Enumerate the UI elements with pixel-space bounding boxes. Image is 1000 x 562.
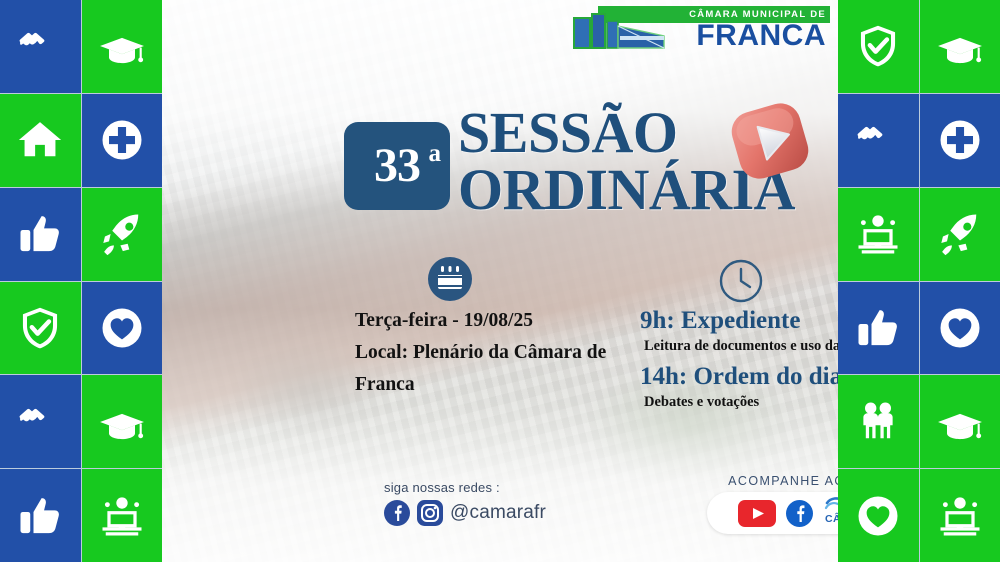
- live-platforms-pill: TV CÂMARA FRANCA: [707, 492, 838, 534]
- icon-tile-graduation-cap: [920, 0, 1000, 93]
- medical-cross-icon: [934, 114, 986, 166]
- social-handle[interactable]: @camarafr: [450, 502, 546, 524]
- social-label: siga nossas redes :: [384, 480, 546, 495]
- camara-municipal-franca-logo: CÂMARA MUNICIPAL DE FRANCA: [566, 4, 830, 56]
- schedule-title-0: Expediente: [681, 307, 800, 334]
- schedule-time-0: 9h: [640, 307, 666, 334]
- icon-tile-handshake: [0, 0, 81, 93]
- thumbs-up-icon: [14, 208, 66, 260]
- schedule-time-1: 14h: [640, 363, 679, 390]
- session-ordinal-suffix: a: [429, 140, 442, 168]
- schedule-title-1: Ordem do dia: [693, 363, 838, 390]
- session-announcement-poster: CÂMARA MUNICIPAL DE FRANCA 33: [0, 0, 1000, 562]
- icon-tile-heart: [82, 282, 163, 375]
- icon-tile-thumbs-up: [838, 282, 919, 375]
- session-date: Terça-feira - 19/08/25: [355, 305, 645, 337]
- icon-tile-thumbs-up: [0, 188, 81, 281]
- live-label: ACOMPANHE AO VIVO: [707, 474, 838, 488]
- clock-icon: [718, 258, 764, 304]
- icon-tile-graduation-cap: [920, 375, 1000, 468]
- heart-icon: [934, 302, 986, 354]
- graduation-cap-icon: [96, 396, 148, 448]
- icon-tile-people: [838, 375, 919, 468]
- schedule-sep-0: :: [666, 307, 681, 334]
- right-icon-grid: [838, 0, 1000, 562]
- rocket-icon: [96, 208, 148, 260]
- instagram-icon[interactable]: [417, 500, 443, 526]
- heart-icon: [852, 490, 904, 542]
- graduation-cap-icon: [96, 20, 148, 72]
- icon-tile-shield-check: [838, 0, 919, 93]
- icon-tile-heart: [920, 282, 1000, 375]
- icon-tile-shield-check: [0, 282, 81, 375]
- icon-tile-home: [0, 94, 81, 187]
- icon-tile-handshake: [838, 94, 919, 187]
- schedule-desc-0: Leitura de documentos e uso da tribuna: [644, 338, 838, 355]
- session-location: Local: Plenário da Câmara de Franca: [355, 337, 645, 401]
- icon-tile-graduation-cap: [82, 0, 163, 93]
- icon-tile-online-learning: [920, 469, 1000, 562]
- schedule-sep-1: :: [679, 363, 694, 390]
- schedule-desc-1: Debates e votações: [644, 394, 838, 411]
- svg-text:CÂMARA: CÂMARA: [825, 512, 839, 525]
- icon-tile-medical-cross: [920, 94, 1000, 187]
- shield-check-icon: [14, 302, 66, 354]
- medical-cross-icon: [96, 114, 148, 166]
- thumbs-up-icon: [14, 490, 66, 542]
- logo-city-name: FRANCA: [696, 20, 826, 52]
- tv-camara-logo[interactable]: TV CÂMARA FRANCA: [823, 497, 839, 529]
- icon-tile-medical-cross: [82, 94, 163, 187]
- online-learning-icon: [934, 490, 986, 542]
- handshake-icon: [852, 114, 904, 166]
- youtube-icon[interactable]: [738, 500, 776, 527]
- online-learning-icon: [852, 208, 904, 260]
- handshake-icon: [14, 396, 66, 448]
- calendar-icon: [427, 256, 473, 302]
- icon-tile-rocket: [82, 188, 163, 281]
- camara-building-mark-icon: [572, 12, 682, 54]
- icon-tile-online-learning: [82, 469, 163, 562]
- facebook-icon[interactable]: [786, 500, 813, 527]
- icon-tile-graduation-cap: [82, 375, 163, 468]
- facebook-icon[interactable]: [384, 500, 410, 526]
- icon-tile-online-learning: [838, 188, 919, 281]
- icon-tile-thumbs-up: [0, 469, 81, 562]
- heart-icon: [96, 302, 148, 354]
- left-icon-grid: [0, 0, 162, 562]
- shield-check-icon: [852, 20, 904, 72]
- icon-tile-rocket: [920, 188, 1000, 281]
- graduation-cap-icon: [934, 396, 986, 448]
- session-schedule: 9h: Expediente Leitura de documentos e u…: [640, 305, 838, 417]
- online-learning-icon: [96, 490, 148, 542]
- social-follow-block: siga nossas redes : @camarafr: [384, 480, 546, 526]
- handshake-icon: [14, 20, 66, 72]
- schedule-item-time-title: 9h: Expediente: [640, 305, 838, 337]
- home-icon: [14, 114, 66, 166]
- icon-tile-heart: [838, 469, 919, 562]
- graduation-cap-icon: [934, 20, 986, 72]
- schedule-item-time-title: 14h: Ordem do dia: [640, 361, 838, 393]
- live-broadcast-block: ACOMPANHE AO VIVO TV: [707, 474, 838, 534]
- thumbs-up-icon: [852, 302, 904, 354]
- session-number-badge: 33 a: [344, 122, 450, 210]
- play-button-3d-icon: [722, 96, 818, 186]
- people-icon: [852, 396, 904, 448]
- center-panel: CÂMARA MUNICIPAL DE FRANCA 33: [162, 0, 838, 562]
- rocket-icon: [934, 208, 986, 260]
- icon-tile-handshake: [0, 375, 81, 468]
- session-datetime-block: Terça-feira - 19/08/25 Local: Plenário d…: [355, 305, 645, 401]
